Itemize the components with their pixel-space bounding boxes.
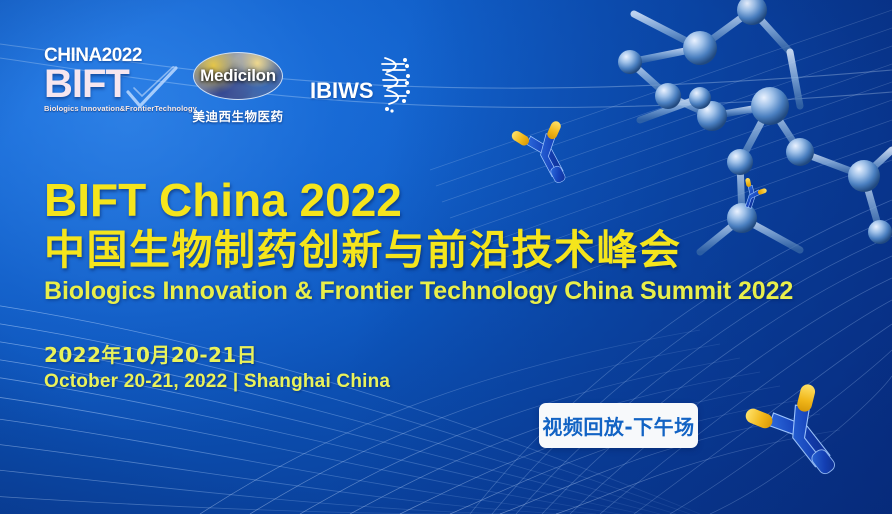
ibiws-logo: IBIWS [310, 46, 412, 114]
date-location-block: 2022年10月20-21日 October 20-21, 2022 | Sha… [44, 342, 390, 395]
medicilon-oval-icon: Medicilon [193, 52, 283, 100]
event-date-english: October 20-21, 2022 | Shanghai China [44, 369, 390, 395]
title-block: BIFT China 2022 中国生物制药创新与前沿技术峰会 Biologic… [44, 176, 844, 306]
medicilon-chinese-name: 美迪西生物医药 [192, 106, 284, 125]
event-title-english: BIFT China 2022 [44, 176, 844, 224]
medicilon-logo: Medicilon 美迪西生物医药 [192, 46, 284, 125]
ibiws-wordmark: IBIWS [310, 78, 374, 104]
event-subtitle-english: Biologics Innovation & Frontier Technolo… [44, 278, 844, 306]
bift-logo-tagline: Biologics Innovation&FrontierTechnology [44, 104, 170, 113]
bift-logo: CHINA2022 BIFT Biologics Innovation&Fron… [44, 46, 170, 124]
event-title-chinese: 中国生物制药创新与前沿技术峰会 [44, 228, 844, 274]
sponsor-logo-row: CHINA2022 BIFT Biologics Innovation&Fron… [44, 46, 412, 125]
bift-logo-wordmark: BIFT [44, 66, 170, 103]
medicilon-wordmark: Medicilon [194, 66, 282, 86]
event-banner: CHINA2022 BIFT Biologics Innovation&Fron… [0, 0, 892, 514]
video-replay-button[interactable]: 视频回放-下午场 [539, 403, 698, 448]
event-date-chinese: 2022年10月20-21日 [44, 342, 390, 369]
video-replay-button-label: 视频回放-下午场 [542, 411, 694, 440]
dna-helix-icon [378, 54, 412, 114]
